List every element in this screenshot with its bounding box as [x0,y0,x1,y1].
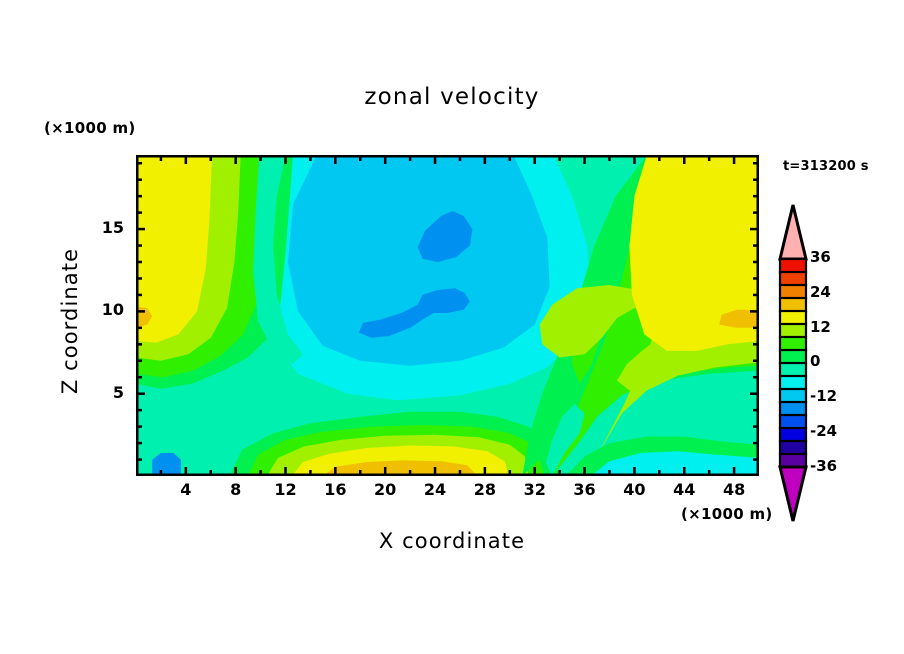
colorbar-segment [780,285,806,299]
y-axis-title: Z coordinate [58,191,82,451]
contour-plot [136,155,759,476]
x-axis-units-label: (×1000 m) [681,505,773,523]
x-tick-label: 36 [565,480,605,499]
y-tick-label: 5 [84,383,124,402]
colorbar [776,203,810,523]
x-tick-label: 8 [216,480,256,499]
figure-canvas: zonal velocity (×1000 m) (×1000 m) t=313… [0,0,904,654]
x-tick-label: 32 [515,480,555,499]
x-tick-label: 48 [714,480,754,499]
colorbar-tick-label: 24 [810,283,831,301]
colorbar-segment [780,441,806,455]
colorbar-segment [780,363,806,377]
x-tick-label: 24 [415,480,455,499]
colorbar-segment [780,272,806,286]
contour-band [152,453,181,476]
colorbar-tick-label: -24 [810,422,837,440]
colorbar-segment [780,376,806,390]
colorbar-over-arrow [780,205,806,259]
colorbar-tick-label: 12 [810,318,831,336]
y-axis-units-label: (×1000 m) [44,119,136,137]
colorbar-segment [780,298,806,312]
x-axis-title: X coordinate [0,529,904,553]
y-tick-label: 15 [84,218,124,237]
colorbar-tick-label: -36 [810,457,837,475]
x-tick-label: 44 [664,480,704,499]
x-tick-label: 28 [465,480,505,499]
colorbar-tick-label: 36 [810,248,831,266]
colorbar-segment [780,337,806,351]
x-tick-label: 40 [614,480,654,499]
colorbar-segment [780,311,806,325]
chart-title: zonal velocity [0,84,904,110]
colorbar-segment [780,389,806,403]
x-tick-label: 20 [365,480,405,499]
y-tick-label: 10 [84,300,124,319]
colorbar-tick-label: 0 [810,352,820,370]
colorbar-segment [780,350,806,364]
x-tick-label: 4 [166,480,206,499]
colorbar-segment [780,415,806,429]
colorbar-segment [780,324,806,338]
colorbar-tick-label: -12 [810,387,837,405]
x-tick-label: 12 [266,480,306,499]
colorbar-segment [780,428,806,442]
contour-band [288,155,550,366]
colorbar-segment [780,402,806,416]
colorbar-under-arrow [780,467,806,521]
x-tick-label: 16 [315,480,355,499]
contour-field [136,155,759,476]
colorbar-segment [780,259,806,273]
time-annotation: t=313200 s [783,159,869,174]
